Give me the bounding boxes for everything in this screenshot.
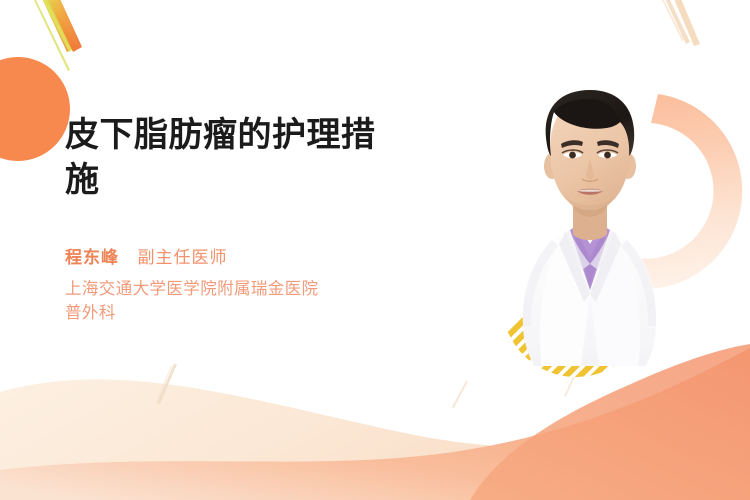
affiliation-line-2: 普外科 [65,302,415,325]
page-title: 皮下脂肪瘤的护理措施 [65,113,405,203]
affiliation-line-1: 上海交通大学医学院附属瑞金医院 [65,278,415,301]
diagonal-stripe-bottom-mid [452,381,468,408]
diagonal-stripe-top-right [660,0,700,46]
cream-wave [0,379,750,500]
doctor-job-title: 副主任医师 [137,248,227,267]
doctor-name: 程东峰 [65,248,119,267]
text-block: 皮下脂肪瘤的护理措施 程东峰 副主任医师 上海交通大学医学院附属瑞金医院 普外科 [65,113,445,325]
head [544,90,636,216]
white-coat [523,225,656,366]
diagonal-stripe-top-left [34,0,82,71]
doctor-portrait [430,58,750,383]
orange-circle [0,57,70,161]
affiliation: 上海交通大学医学院附属瑞金医院 普外科 [65,278,415,325]
byline: 程东峰 副主任医师 [65,243,445,268]
video-cover-card: 皮下脂肪瘤的护理措施 程东峰 副主任医师 上海交通大学医学院附属瑞金医院 普外科 [0,0,750,500]
diagonal-stripe-bottom-left [155,364,177,404]
